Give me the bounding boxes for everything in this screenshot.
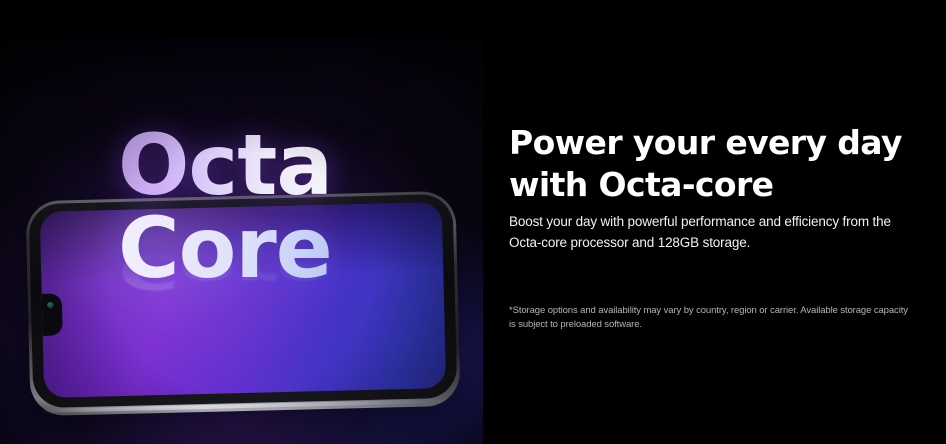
disclaimer-text: *Storage options and availability may va… bbox=[509, 304, 909, 333]
body-copy: Boost your day with powerful performance… bbox=[509, 212, 907, 253]
promo-banner: Core Octa Core Power your every daywith … bbox=[0, 0, 946, 444]
background-vignette bbox=[0, 38, 483, 444]
copy-panel: Power your every daywith Octa-core Boost… bbox=[483, 0, 946, 444]
headline-line-1: Power your every day bbox=[509, 123, 902, 162]
headline: Power your every daywith Octa-core bbox=[509, 122, 909, 206]
product-visual-panel: Core Octa Core bbox=[0, 38, 483, 444]
headline-line-2: with Octa-core bbox=[509, 165, 773, 204]
